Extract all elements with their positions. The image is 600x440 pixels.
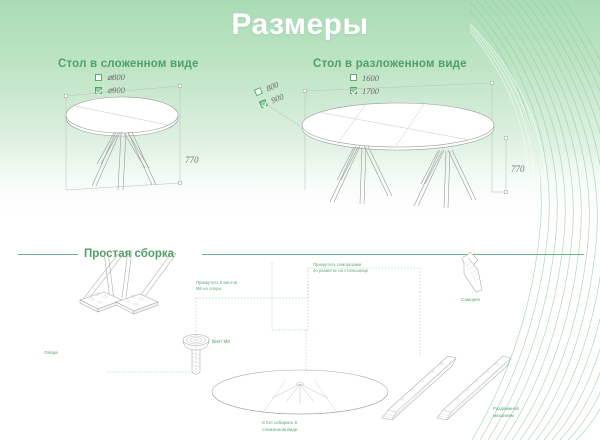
slide-rail-drawing: [382, 356, 511, 420]
support-leg-drawing: [80, 250, 176, 314]
label-support: Опора: [44, 350, 58, 357]
label-mechanism: Раздвижной механизм: [493, 406, 519, 419]
bolt-drawing: [183, 335, 209, 375]
note-screws: Прикрутить 8 винтов М6 на опоры: [196, 280, 237, 292]
poster-page: Размеры Стол в сложенном виде Стол в раз…: [0, 0, 600, 440]
label-bolt: Винт М6: [212, 339, 230, 346]
tabletop-drawing: [212, 370, 388, 414]
screw-drawing: [463, 250, 482, 292]
assembly-diagram: [0, 0, 600, 440]
note-tabletop-screws: Прикрутить саморезами по разметке на сто…: [313, 262, 368, 274]
label-screw: Саморез: [461, 297, 480, 304]
label-fold-note: Стол собирать в сложенном виде: [262, 420, 297, 433]
